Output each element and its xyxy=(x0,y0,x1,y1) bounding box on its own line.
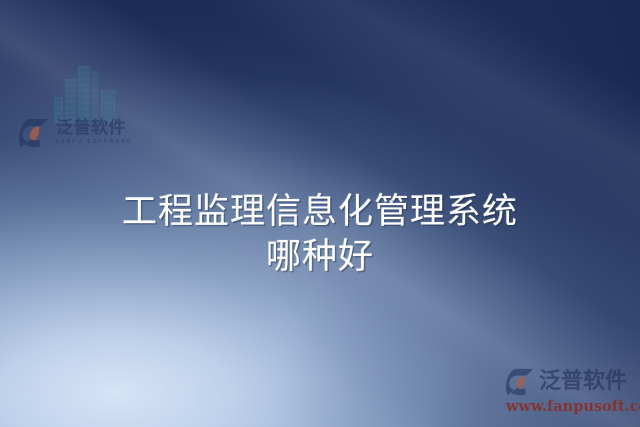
fanpu-software-watermark: 泛普软件 www.fanpusoft.com xyxy=(506,368,636,415)
watermark-cn-name: 泛普软件 xyxy=(539,371,627,393)
logo-en-name: FANPU SOFTWARE xyxy=(56,140,132,145)
city-buildings-icon xyxy=(54,57,116,123)
page-title-line-1: 工程监理信息化管理系统 xyxy=(0,190,640,235)
watermark-logo-row: 泛普软件 xyxy=(506,368,636,396)
page-title: 工程监理信息化管理系统 哪种好 xyxy=(0,190,640,280)
slide-canvas: 泛普软件 FANPU SOFTWARE 工程监理信息化管理系统 哪种好 泛普软件… xyxy=(0,0,640,427)
fanpu-swoosh-shield-icon xyxy=(506,368,534,396)
watermark-url: www.fanpusoft.com xyxy=(506,398,636,415)
fanpu-software-logo: 泛普软件 FANPU SOFTWARE xyxy=(19,118,132,148)
fanpu-swoosh-shield-icon xyxy=(19,118,49,148)
page-title-line-2: 哪种好 xyxy=(0,235,640,280)
logo-cn-name: 泛普软件 xyxy=(56,120,132,137)
